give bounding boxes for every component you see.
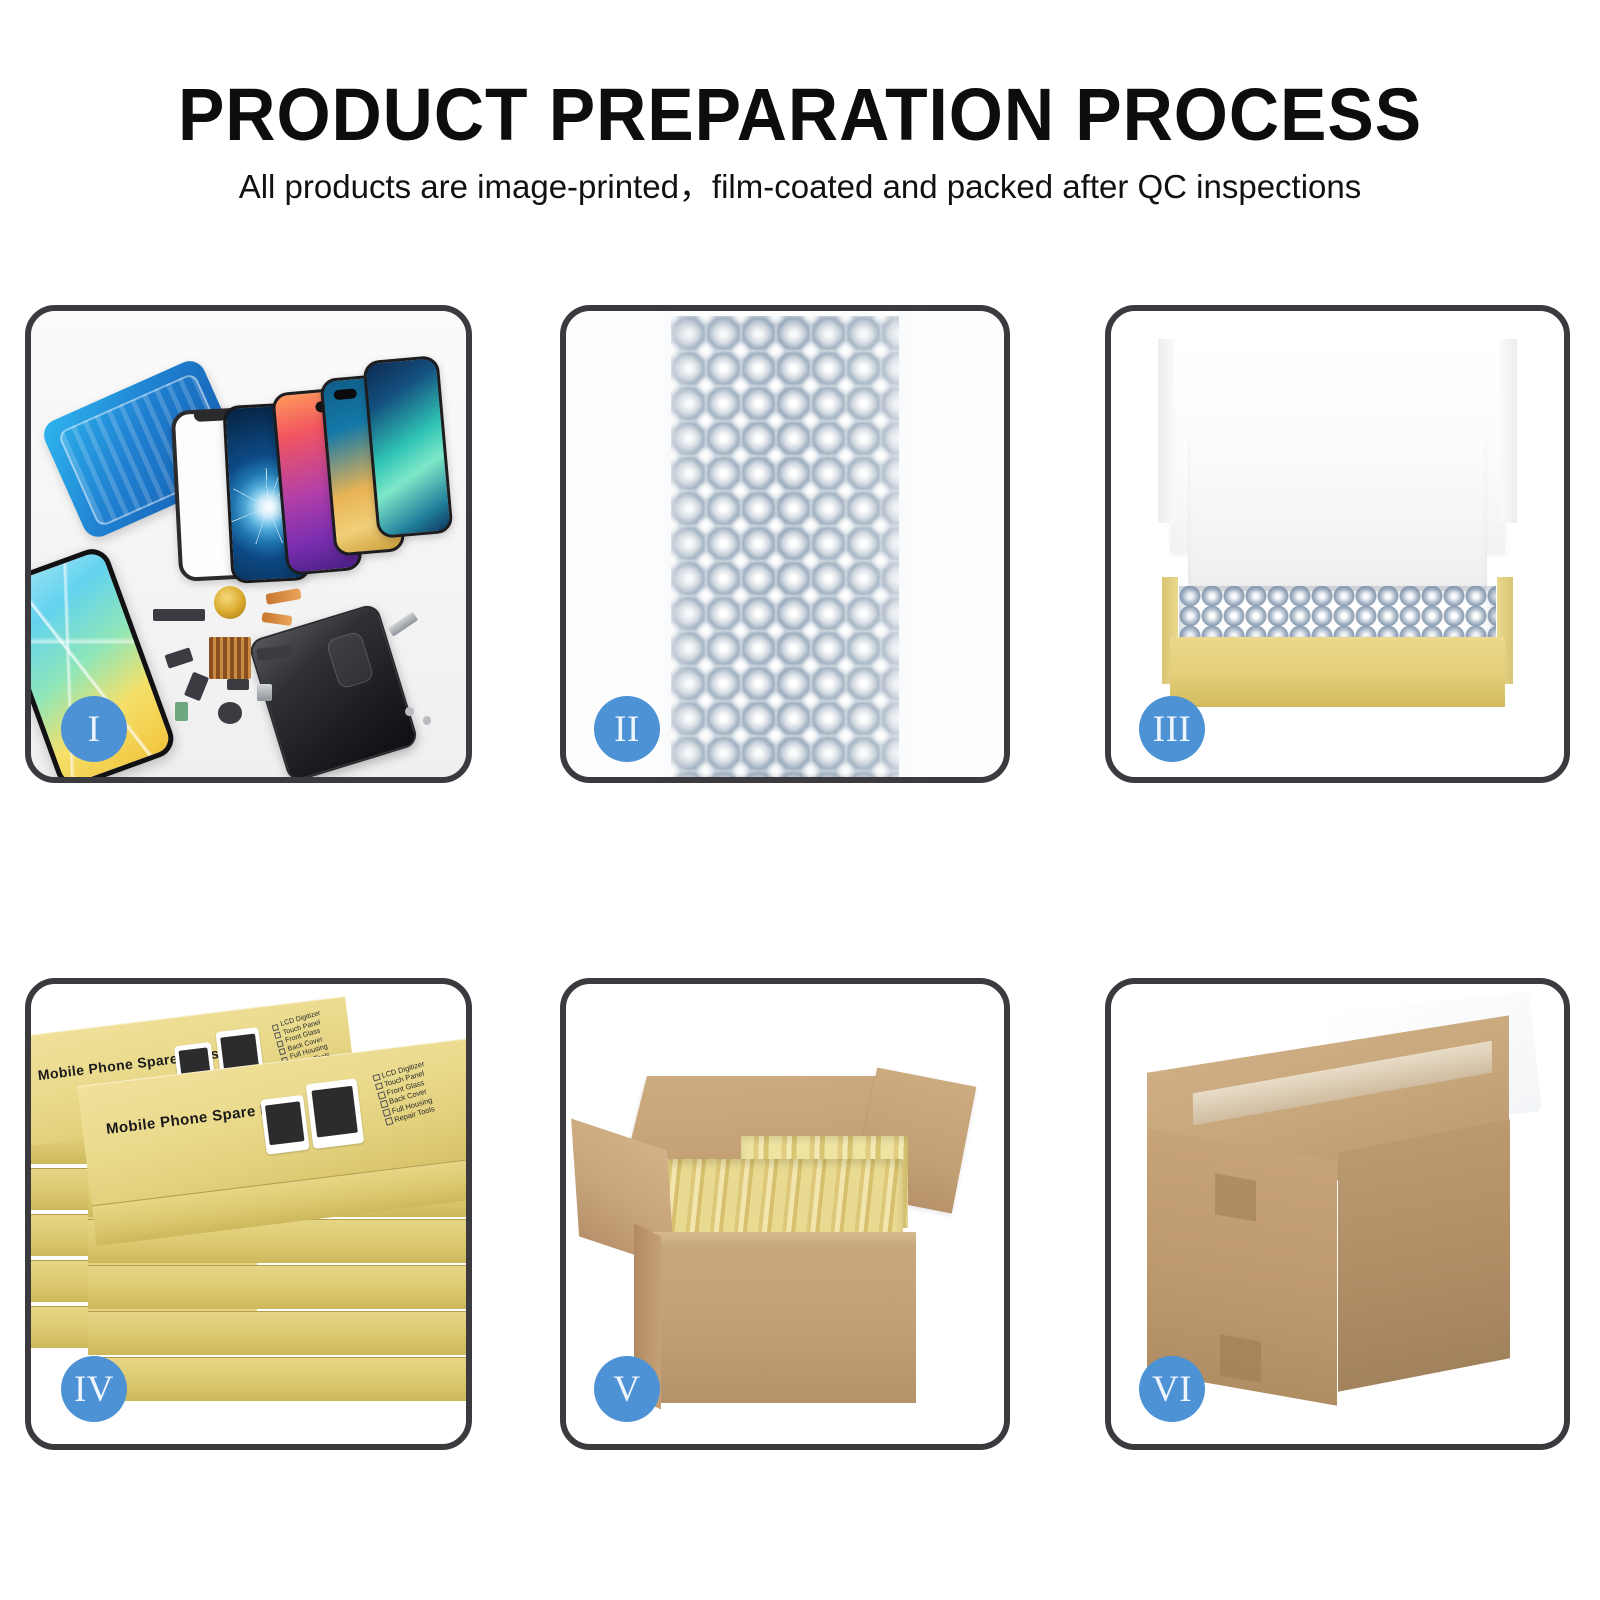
- gold-box-stack-item: [88, 1357, 466, 1401]
- box-screen-thumb: [260, 1095, 309, 1155]
- gold-box-front-icon: [1170, 637, 1505, 707]
- step-badge-1: I: [61, 696, 127, 762]
- process-step-2: II: [560, 305, 1010, 783]
- process-step-6: VI: [1105, 978, 1570, 1450]
- carton-seam-patch: [1215, 1174, 1256, 1223]
- screw-icon: [405, 707, 414, 716]
- box-screen-thumb-2: [306, 1079, 364, 1149]
- step-badge-6: VI: [1139, 1356, 1205, 1422]
- process-step-3: III: [1105, 305, 1570, 783]
- process-step-1: I: [25, 305, 472, 783]
- gold-box-stack-item: [88, 1311, 466, 1355]
- gold-box-stack-item: [88, 1265, 466, 1309]
- speaker-mesh-icon: [153, 609, 205, 621]
- process-steps-grid: I II III: [0, 0, 1600, 1600]
- sealed-carton-side-icon: [1338, 1119, 1510, 1392]
- sim-tray-icon: [175, 702, 188, 721]
- ic-board-icon: [209, 637, 250, 679]
- wrapped-product-in-box-icon: [1179, 586, 1496, 642]
- vibrator-icon: [227, 679, 249, 690]
- process-step-4: Mobile Phone Spare Parts LCD Digitizer T…: [25, 978, 472, 1450]
- step-badge-5: V: [594, 1356, 660, 1422]
- camera-module-icon: [257, 684, 272, 701]
- plastic-film-sheen: [645, 311, 925, 777]
- step-badge-3: III: [1139, 696, 1205, 762]
- carton-body-icon: [645, 1251, 917, 1403]
- foam-insert-icon: [1188, 437, 1487, 591]
- earpiece-icon: [218, 702, 241, 723]
- wireless-coil-icon: [214, 586, 246, 619]
- step-badge-4: IV: [61, 1356, 127, 1422]
- teal-phone-screen-icon: [363, 355, 454, 539]
- carton-seam-patch-2: [1220, 1335, 1261, 1384]
- process-step-5: V: [560, 978, 1010, 1450]
- step-badge-2: II: [594, 696, 660, 762]
